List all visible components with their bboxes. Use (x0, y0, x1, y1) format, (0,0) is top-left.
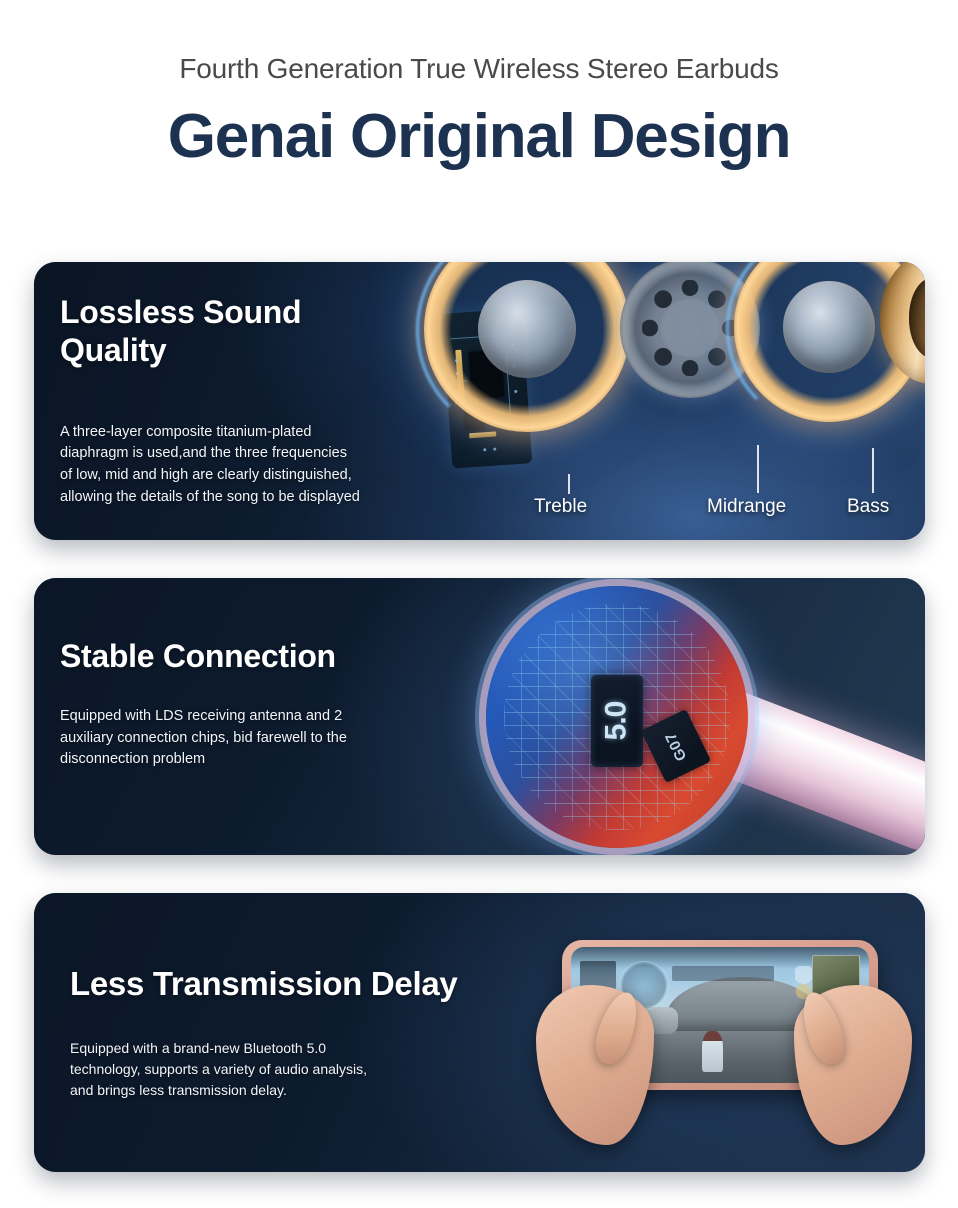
page-header: Fourth Generation True Wireless Stereo E… (0, 0, 958, 169)
bluetooth-chip: 5.0 (591, 675, 643, 767)
leader-line-treble (568, 474, 570, 494)
page-title: Genai Original Design (0, 104, 958, 169)
card-body-text: Equipped with LDS receiving antenna and … (60, 706, 440, 771)
label-treble: Treble (534, 496, 587, 518)
feature-card-stable-connection: 5.0 G07 Stable Connection Equipped with … (34, 578, 925, 855)
exploded-speaker-drivers-graphic (424, 262, 925, 468)
auxiliary-chip-label: G07 (662, 729, 690, 763)
product-feature-page: Fourth Generation True Wireless Stereo E… (0, 0, 958, 1208)
label-midrange: Midrange (707, 496, 786, 518)
card-text-block: Less Transmission Delay Equipped with a … (70, 965, 500, 1101)
card-text-block: Lossless Sound Quality A three-layer com… (60, 294, 440, 509)
label-bass: Bass (847, 496, 889, 518)
card-body-text: A three-layer composite titanium-plated … (60, 422, 440, 509)
card-text-block: Stable Connection Equipped with LDS rece… (60, 638, 440, 771)
feature-card-less-transmission-delay: Less Transmission Delay Equipped with a … (34, 893, 925, 1172)
card-body-text: Equipped with a brand-new Bluetooth 5.0 … (70, 1038, 500, 1101)
transparent-earbud-graphic: 5.0 G07 (486, 586, 748, 848)
leader-line-midrange (757, 445, 759, 493)
card-heading: Less Transmission Delay (70, 965, 500, 1004)
bluetooth-version-label: 5.0 (600, 702, 634, 741)
card-heading: Lossless Sound Quality (60, 294, 440, 370)
leader-line-bass (872, 448, 874, 493)
page-subtitle: Fourth Generation True Wireless Stereo E… (0, 52, 958, 86)
card-heading: Stable Connection (60, 638, 440, 676)
feature-card-lossless-sound-quality: Lossless Sound Quality A three-layer com… (34, 262, 925, 540)
